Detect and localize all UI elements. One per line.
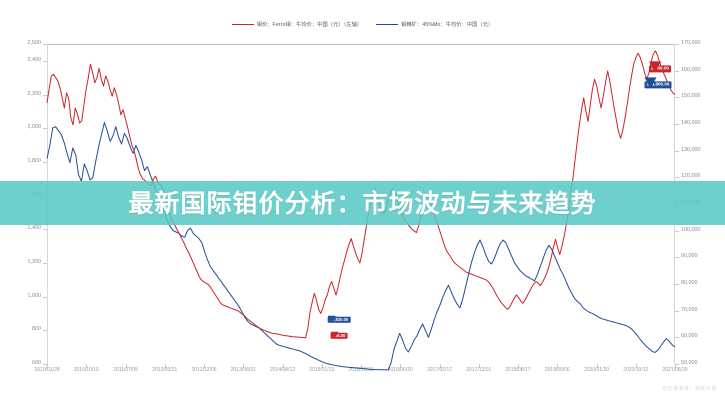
y-tick-label-right: 100,000 [681, 228, 701, 233]
x-tick-label: 2012/12/06 [191, 368, 216, 373]
y-tick-right [675, 337, 679, 338]
overlay-banner: 最新国际钼价分析：市场波动与未来趋势 [0, 181, 725, 225]
x-tick-label: 2010/10/19 [74, 368, 99, 373]
x-tick-label: 2020/01/20 [584, 368, 609, 373]
annotation-max-blue[interactable]: 166,800.00 [645, 81, 672, 106]
y-tick-label-right: 160,000 [681, 68, 701, 73]
x-tick-label: 2010/01/28 [34, 368, 59, 373]
x-tick-label: 2018/08/17 [505, 368, 530, 373]
y-tick-label-right: 90,000 [681, 254, 698, 259]
y-tick-label-left: 2,500 [28, 41, 42, 46]
x-tick-label: 2012/03/21 [152, 368, 177, 373]
y-tick-label-left: 1,800 [28, 159, 42, 164]
chart-legend: 钼价：Ferro钼：牛均价：中国（元）（左轴） 钼精矿：45%Mo：牛均价：中国… [0, 21, 725, 28]
y-tick-right [675, 284, 679, 285]
y-tick-label-right: 80,000 [681, 281, 698, 286]
x-tick-label: 2017/02/17 [427, 368, 452, 373]
y-tick-label-right: 170,000 [681, 41, 701, 46]
page-title: 最新国际钼价分析：市场波动与未来趋势 [128, 191, 596, 216]
legend-label-red: 钼价：Ferro钼：牛均价：中国（元）（左轴） [257, 21, 362, 28]
watermark: 仅记录参考，钼板价格 [662, 385, 717, 392]
legend-entry-ferro-moly[interactable]: 钼价：Ferro钼：牛均价：中国（元）（左轴） [232, 21, 362, 28]
x-tick-label: 2019/05/06 [545, 368, 570, 373]
annotation-max-blue-tip [645, 77, 657, 105]
annotation-min-red-tip [331, 332, 339, 356]
legend-entry-moly-concentrate[interactable]: 钼精矿：45%Mo：牛均价：中国（元） [376, 21, 493, 28]
x-tick-label: 2017/12/01 [466, 368, 491, 373]
x-tick-label: 2015/01/23 [309, 368, 334, 373]
y-tick-label-left: 2,000 [28, 125, 42, 130]
y-tick-right [675, 257, 679, 258]
y-tick-label-left: 2,400 [28, 58, 42, 63]
y-tick-label-right: 50,000 [681, 361, 698, 366]
y-tick-label-left: 2,200 [28, 92, 42, 97]
y-tick-label-left: 800 [32, 327, 41, 332]
y-tick-label-right: 150,000 [681, 94, 701, 99]
y-tick-label-right: 70,000 [681, 308, 698, 313]
legend-swatch-blue [376, 24, 398, 26]
x-tick-label: 2011/07/05 [113, 368, 138, 373]
x-tick-label: 2021/06/29 [662, 368, 687, 373]
y-tick-right [675, 231, 679, 232]
annotation-min-red[interactable]: 756.00 [331, 333, 348, 357]
x-tick-label: 2013/08/31 [231, 368, 256, 373]
y-tick-label-right: 130,000 [681, 148, 701, 153]
y-tick-right [675, 311, 679, 312]
y-tick-label-left: 1,400 [28, 226, 42, 231]
legend-swatch-red [232, 24, 254, 26]
y-tick-label-right: 60,000 [681, 334, 698, 339]
y-tick-right [675, 124, 679, 125]
y-tick-right [675, 71, 679, 72]
y-tick-right [675, 44, 679, 45]
x-tick-label: 2020/10/12 [623, 368, 648, 373]
y-tick-label-left: 1,200 [28, 260, 42, 265]
series-line-moly-concentrate [47, 123, 675, 370]
y-tick-label-left: 1,000 [28, 294, 42, 299]
y-tick-label-left: 600 [32, 361, 41, 366]
y-tick-label-right: 140,000 [681, 121, 701, 126]
x-tick-label: 2016/06/20 [388, 368, 413, 373]
y-tick-right [675, 177, 679, 178]
x-tick-label: 2014/08/12 [270, 368, 295, 373]
y-tick-right [675, 151, 679, 152]
chart-page: 钼价：Ferro钼：牛均价：中国（元）（左轴） 钼精矿：45%Mo：牛均价：中国… [0, 0, 725, 400]
y-tick-label-right: 120,000 [681, 174, 701, 179]
legend-label-blue: 钼精矿：45%Mo：牛均价：中国（元） [401, 21, 493, 28]
y-tick-right [675, 97, 679, 98]
